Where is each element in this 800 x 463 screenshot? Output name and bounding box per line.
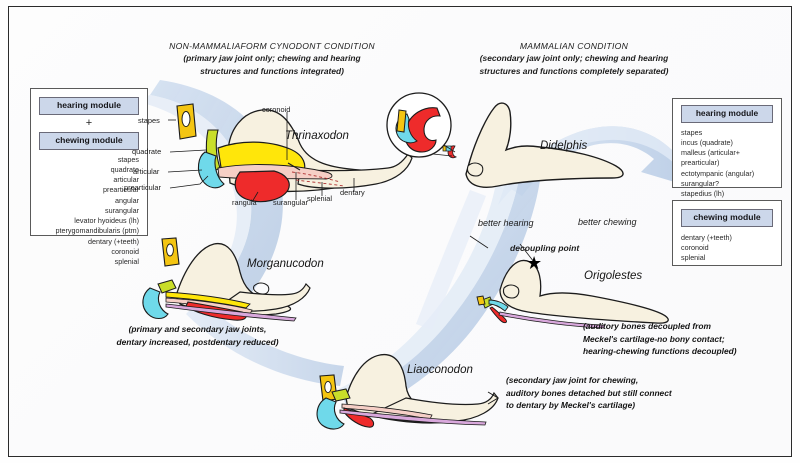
label-stapes: stapes xyxy=(138,116,160,125)
caption-line: (secondary jaw joint for chewing, xyxy=(506,374,672,387)
decoupling-star-icon: ★ xyxy=(526,254,542,272)
label-articular: articular xyxy=(133,167,159,176)
term-item: coronoid xyxy=(37,247,139,257)
label-prearticular: prearticular xyxy=(124,183,161,192)
term-item: stapes xyxy=(681,128,775,138)
term-item: ectotympanic (angular) xyxy=(681,169,775,179)
right-hearing-module-header: hearing module xyxy=(681,105,773,123)
heading-left-line1: NON-MAMMALIAFORM CYNODONT CONDITION xyxy=(132,40,412,52)
left-module-term-list: stapes quadrate articular prearticular a… xyxy=(37,155,139,267)
caption-line: Meckel's cartilage-no bony contact; xyxy=(583,333,737,346)
label-surangular: surangular xyxy=(273,198,308,207)
left-hearing-module-header: hearing module xyxy=(39,97,139,115)
pathword-decoupling-point: decoupling point xyxy=(510,243,579,253)
heading-left-line2: (primary jaw joint only; chewing and hea… xyxy=(132,52,412,64)
taxon-label-liaoconodon: Liaoconodon xyxy=(407,364,473,376)
term-item: coronoid xyxy=(681,243,775,253)
taxon-label-thrinaxodon: Thrinaxodon xyxy=(285,130,349,142)
caption-line: hearing-chewing functions decoupled) xyxy=(583,345,737,358)
label-rangula: rangula xyxy=(232,198,257,207)
right-hearing-term-list: stapes incus (quadrate) malleus (articul… xyxy=(681,128,775,210)
right-chewing-module-header: chewing module xyxy=(681,209,773,227)
heading-right-line2: (secondary jaw joint only; chewing and h… xyxy=(440,52,708,64)
caption-liaoconodon: (secondary jaw joint for chewing, audito… xyxy=(506,374,672,412)
plus-symbol: + xyxy=(31,118,147,129)
pathword-better-chewing: better chewing xyxy=(578,217,637,227)
term-item: incus (quadrate) xyxy=(681,138,775,148)
caption-line: dentary increased, postdentary reduced) xyxy=(75,336,320,349)
left-module-panel: hearing module + chewing module stapes q… xyxy=(30,88,148,236)
taxon-label-morganucodon: Morganucodon xyxy=(247,258,324,270)
right-chewing-module-panel: chewing module dentary (+teeth) coronoid… xyxy=(672,200,782,266)
term-item: quadrate xyxy=(37,165,139,175)
term-item: dentary (+teeth) xyxy=(681,233,775,243)
label-quadrate: quadrate xyxy=(132,147,161,156)
heading-right-condition: MAMMALIAN CONDITION (secondary jaw joint… xyxy=(440,40,708,77)
term-item: malleus (articular+ xyxy=(681,148,775,158)
caption-origolestes: (auditory bones decoupled from Meckel's … xyxy=(583,320,737,358)
term-item: prearticular) xyxy=(681,158,775,168)
caption-line: (primary and secondary jaw joints, xyxy=(75,323,320,336)
right-hearing-module-panel: hearing module stapes incus (quadrate) m… xyxy=(672,98,782,188)
pathword-better-hearing: better hearing xyxy=(478,218,534,228)
term-item: pterygomandibularis (ptm) xyxy=(37,226,139,236)
term-item: dentary (+teeth) xyxy=(37,237,139,247)
heading-left-line3: structures and functions integrated) xyxy=(132,65,412,77)
heading-right-line1: MAMMALIAN CONDITION xyxy=(440,40,708,52)
caption-line: (auditory bones decoupled from xyxy=(583,320,737,333)
caption-line: to dentary by Meckel's cartilage) xyxy=(506,399,672,412)
term-item: levator hyoideus (lh) xyxy=(37,216,139,226)
heading-left-condition: NON-MAMMALIAFORM CYNODONT CONDITION (pri… xyxy=(132,40,412,77)
right-chewing-term-list: dentary (+teeth) coronoid splenial xyxy=(681,233,775,264)
heading-right-line3: structures and functions completely sepa… xyxy=(440,65,708,77)
label-splenial: splenial xyxy=(307,194,332,203)
term-item: angular xyxy=(37,196,139,206)
term-item: surangular? xyxy=(681,179,775,189)
caption-line: auditory bones detached but still connec… xyxy=(506,387,672,400)
taxon-label-origolestes: Origolestes xyxy=(584,270,642,282)
left-chewing-module-header: chewing module xyxy=(39,132,139,150)
term-item: stapes xyxy=(37,155,139,165)
figure-root: hearing module + chewing module stapes q… xyxy=(0,0,800,463)
label-dentary: dentary xyxy=(340,188,365,197)
term-item: stapedius (lh) xyxy=(681,189,775,199)
term-item: splenial xyxy=(681,253,775,263)
label-coronoid: coronoid xyxy=(262,105,290,114)
taxon-label-didelphis: Didelphis xyxy=(540,140,587,152)
term-item: splenial xyxy=(37,257,139,267)
term-item: surangular xyxy=(37,206,139,216)
caption-morganucodon: (primary and secondary jaw joints, denta… xyxy=(75,323,320,348)
